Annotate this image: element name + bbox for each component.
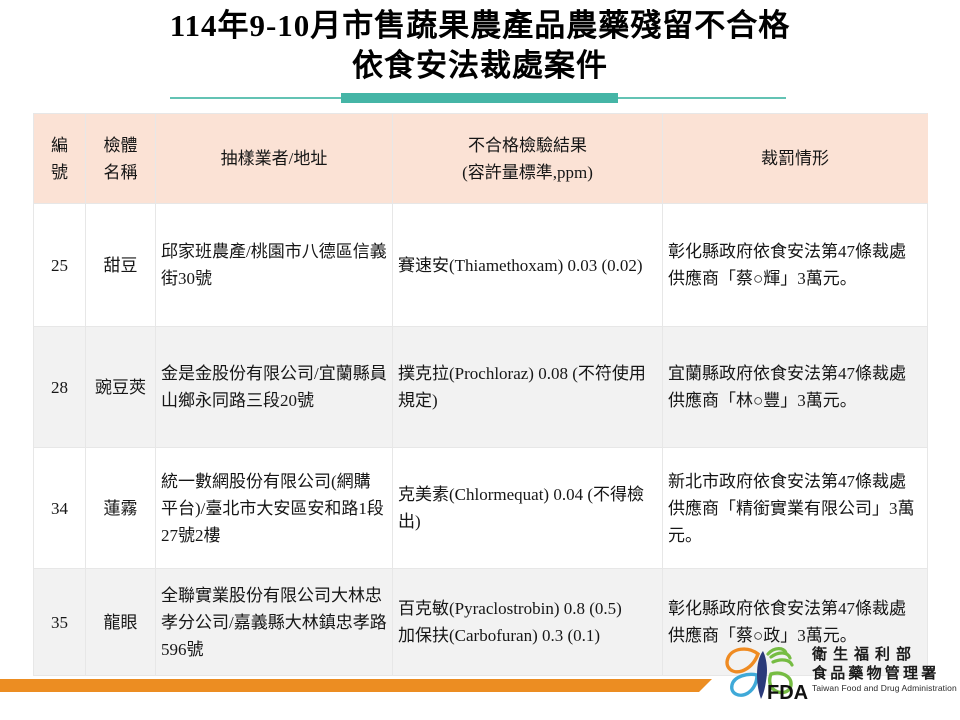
column-header-sample-name-line1: 檢體 [104, 136, 138, 155]
test-result-line: 撲克拉(Prochloraz) 0.08 (不符使用規定) [398, 360, 657, 414]
divider-thick-bar [341, 93, 618, 103]
column-header-test-result-line2: (容許量標準,ppm) [462, 163, 593, 182]
footer-accent-bar [0, 679, 712, 692]
cell-vendor-address: 邱家班農產/桃園市八德區信義街30號 [156, 204, 393, 327]
cell-sample-name: 龍眼 [86, 569, 156, 676]
page-title-line-2: 依食安法裁處案件 [0, 46, 960, 86]
cell-penalty: 宜蘭縣政府依食安法第47條裁處供應商「林○豐」3萬元。 [663, 327, 928, 448]
column-header-serial-number: 編 號 [34, 114, 86, 204]
fda-logo-text: 衛生福利部 食品藥物管理署 Taiwan Food and Drug Admin… [812, 645, 954, 694]
cell-vendor-address: 金是金股份有限公司/宜蘭縣員山鄉永同路三段20號 [156, 327, 393, 448]
violations-table-container: 編 號 檢體 名稱 抽樣業者/地址 不合格檢驗結果 (容許量標準,ppm) 裁罰… [33, 113, 927, 676]
cell-penalty: 彰化縣政府依食安法第47條裁處供應商「蔡○輝」3萬元。 [663, 204, 928, 327]
cell-serial-number: 34 [34, 448, 86, 569]
page-title-line-1: 114年9-10月市售蔬果農產品農藥殘留不合格 [0, 6, 960, 46]
title-divider [0, 92, 960, 104]
cell-serial-number: 28 [34, 327, 86, 448]
column-header-penalty: 裁罰情形 [663, 114, 928, 204]
test-result-line: 加保扶(Carbofuran) 0.3 (0.1) [398, 622, 657, 649]
column-header-test-result: 不合格檢驗結果 (容許量標準,ppm) [393, 114, 663, 204]
cell-sample-name: 豌豆莢 [86, 327, 156, 448]
column-header-vendor-address: 抽樣業者/地址 [156, 114, 393, 204]
cell-sample-name: 蓮霧 [86, 448, 156, 569]
table-row: 25 甜豆 邱家班農產/桃園市八德區信義街30號 賽速安(Thiamethoxa… [34, 204, 928, 327]
cell-serial-number: 35 [34, 569, 86, 676]
test-result-line: 百克敏(Pyraclostrobin) 0.8 (0.5) [398, 595, 657, 622]
test-result-line: 賽速安(Thiamethoxam) 0.03 (0.02) [398, 252, 657, 279]
cell-test-result: 賽速安(Thiamethoxam) 0.03 (0.02) [393, 204, 663, 327]
agency-name-line1: 衛生福利部 [812, 645, 954, 664]
cell-test-result: 克美素(Chlormequat) 0.04 (不得檢出) [393, 448, 663, 569]
table-header: 編 號 檢體 名稱 抽樣業者/地址 不合格檢驗結果 (容許量標準,ppm) 裁罰… [34, 114, 928, 204]
column-header-test-result-line1: 不合格檢驗結果 [468, 136, 587, 155]
fda-butterfly-icon: FDA [724, 645, 808, 703]
table-body: 25 甜豆 邱家班農產/桃園市八德區信義街30號 賽速安(Thiamethoxa… [34, 204, 928, 676]
page-title: 114年9-10月市售蔬果農產品農藥殘留不合格 依食安法裁處案件 [0, 6, 960, 86]
test-result-line: 克美素(Chlormequat) 0.04 (不得檢出) [398, 481, 657, 535]
column-header-serial-number-line1: 編 [51, 136, 68, 155]
cell-vendor-address: 全聯實業股份有限公司大林忠孝分公司/嘉義縣大林鎮忠孝路596號 [156, 569, 393, 676]
table-header-row: 編 號 檢體 名稱 抽樣業者/地址 不合格檢驗結果 (容許量標準,ppm) 裁罰… [34, 114, 928, 204]
violations-table: 編 號 檢體 名稱 抽樣業者/地址 不合格檢驗結果 (容許量標準,ppm) 裁罰… [33, 113, 928, 676]
cell-test-result: 百克敏(Pyraclostrobin) 0.8 (0.5) 加保扶(Carbof… [393, 569, 663, 676]
cell-serial-number: 25 [34, 204, 86, 327]
cell-sample-name: 甜豆 [86, 204, 156, 327]
table-row: 34 蓮霧 統一數網股份有限公司(網購平台)/臺北市大安區安和路1段27號2樓 … [34, 448, 928, 569]
agency-name-line2: 食品藥物管理署 [812, 664, 954, 683]
agency-name-english: Taiwan Food and Drug Administration [812, 683, 954, 694]
table-row: 28 豌豆莢 金是金股份有限公司/宜蘭縣員山鄉永同路三段20號 撲克拉(Proc… [34, 327, 928, 448]
cell-vendor-address: 統一數網股份有限公司(網購平台)/臺北市大安區安和路1段27號2樓 [156, 448, 393, 569]
column-header-sample-name-line2: 名稱 [104, 163, 138, 182]
fda-logo: FDA 衛生福利部 食品藥物管理署 Taiwan Food and Drug A… [724, 645, 954, 707]
svg-text:FDA: FDA [767, 682, 808, 703]
column-header-sample-name: 檢體 名稱 [86, 114, 156, 204]
cell-penalty: 新北市政府依食安法第47條裁處供應商「精銜實業有限公司」3萬元。 [663, 448, 928, 569]
cell-test-result: 撲克拉(Prochloraz) 0.08 (不符使用規定) [393, 327, 663, 448]
column-header-serial-number-line2: 號 [51, 163, 68, 182]
